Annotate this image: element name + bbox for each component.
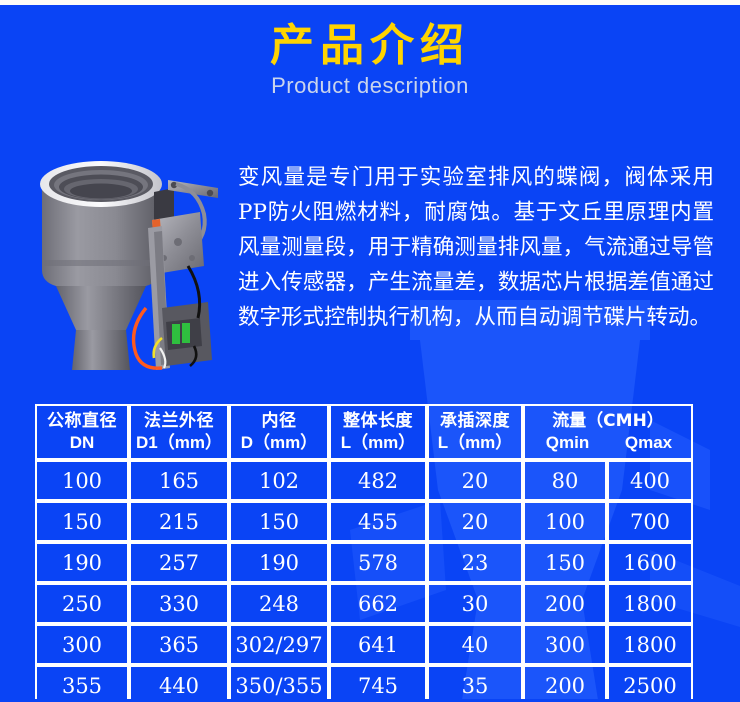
page-title-en: Product description: [0, 69, 740, 99]
cell-l-socket: 23: [427, 542, 523, 583]
cell-dn: 300: [35, 624, 129, 665]
cell-d: 302/297: [229, 624, 329, 665]
header-overall-length-en: L（mm）: [333, 432, 423, 454]
product-description-text: 变风量是专门用于实验室排风的蝶阀，阀体采用PP防火阻燃材料，耐腐蚀。基于文丘里原…: [238, 160, 714, 335]
cell-d: 350/355: [229, 665, 329, 702]
page-header: 产品介绍 Product description: [0, 5, 740, 113]
product-description-page: 产品介绍 Product description: [0, 0, 740, 702]
header-inner-diameter-en: D（mm）: [233, 432, 325, 454]
cell-l-total: 578: [329, 542, 427, 583]
cell-d: 150: [229, 501, 329, 542]
cell-d: 248: [229, 583, 329, 624]
cell-qmin: 80: [523, 460, 607, 501]
header-flange-outer-diameter: 法兰外径 D1（mm）: [129, 404, 229, 460]
header-flow-qmax: Qmax: [608, 432, 689, 454]
header-flow-title: 流量（CMH）: [527, 410, 689, 432]
spec-table-wrapper: 公称直径 DN 法兰外径 D1（mm） 内径 D（mm） 整体长度 L（mm）: [35, 404, 693, 702]
cell-l-total: 641: [329, 624, 427, 665]
header-socket-depth-en: L（mm）: [431, 432, 519, 454]
cell-qmin: 200: [523, 583, 607, 624]
cell-qmin: 100: [523, 501, 607, 542]
cell-l-socket: 20: [427, 460, 523, 501]
cell-d1: 257: [129, 542, 229, 583]
header-flange-outer-diameter-cn: 法兰外径: [133, 410, 225, 432]
cell-dn: 355: [35, 665, 129, 702]
cell-d: 102: [229, 460, 329, 501]
cell-qmax: 400: [607, 460, 693, 501]
cell-l-total: 745: [329, 665, 427, 702]
top-white-edge: [0, 0, 740, 5]
cell-dn: 250: [35, 583, 129, 624]
cell-dn: 150: [35, 501, 129, 542]
cell-l-total: 662: [329, 583, 427, 624]
header-nominal-diameter-en: DN: [39, 432, 125, 454]
cell-l-socket: 40: [427, 624, 523, 665]
cell-qmin: 150: [523, 542, 607, 583]
header-flow-qmin: Qmin: [527, 432, 608, 454]
header-inner-diameter: 内径 D（mm）: [229, 404, 329, 460]
cell-d: 190: [229, 542, 329, 583]
cell-d1: 365: [129, 624, 229, 665]
spec-table: 公称直径 DN 法兰外径 D1（mm） 内径 D（mm） 整体长度 L（mm）: [35, 404, 693, 702]
header-flow-group: 流量（CMH） Qmin Qmax: [523, 404, 693, 460]
header-nominal-diameter: 公称直径 DN: [35, 404, 129, 460]
cell-l-socket: 30: [427, 583, 523, 624]
cell-qmax: 1600: [607, 542, 693, 583]
cell-l-socket: 20: [427, 501, 523, 542]
table-row: 355 440 350/355 745 35 200 2500: [35, 665, 693, 702]
header-socket-depth-cn: 承插深度: [431, 410, 519, 432]
cell-dn: 100: [35, 460, 129, 501]
table-row: 190 257 190 578 23 150 1600: [35, 542, 693, 583]
header-overall-length-cn: 整体长度: [333, 410, 423, 432]
cell-qmax: 2500: [607, 665, 693, 702]
spec-table-body: 100 165 102 482 20 80 400 150 215 150 45…: [35, 460, 693, 702]
cell-d1: 330: [129, 583, 229, 624]
header-overall-length: 整体长度 L（mm）: [329, 404, 427, 460]
table-row: 250 330 248 662 30 200 1800: [35, 583, 693, 624]
cell-qmax: 1800: [607, 624, 693, 665]
cell-l-socket: 35: [427, 665, 523, 702]
cell-d1: 165: [129, 460, 229, 501]
cell-d1: 215: [129, 501, 229, 542]
product-photo: [22, 132, 242, 372]
cell-l-total: 455: [329, 501, 427, 542]
page-title-cn: 产品介绍: [0, 5, 740, 69]
header-nominal-diameter-cn: 公称直径: [39, 410, 125, 432]
table-header-row: 公称直径 DN 法兰外径 D1（mm） 内径 D（mm） 整体长度 L（mm）: [35, 404, 693, 460]
cell-qmin: 200: [523, 665, 607, 702]
table-row: 300 365 302/297 641 40 300 1800: [35, 624, 693, 665]
cell-d1: 440: [129, 665, 229, 702]
cell-qmin: 300: [523, 624, 607, 665]
cell-qmax: 1800: [607, 583, 693, 624]
cell-l-total: 482: [329, 460, 427, 501]
header-socket-depth: 承插深度 L（mm）: [427, 404, 523, 460]
table-row: 150 215 150 455 20 100 700: [35, 501, 693, 542]
table-row: 100 165 102 482 20 80 400: [35, 460, 693, 501]
header-flange-outer-diameter-en: D1（mm）: [133, 432, 225, 454]
header-inner-diameter-cn: 内径: [233, 410, 325, 432]
cell-qmax: 700: [607, 501, 693, 542]
cell-dn: 190: [35, 542, 129, 583]
